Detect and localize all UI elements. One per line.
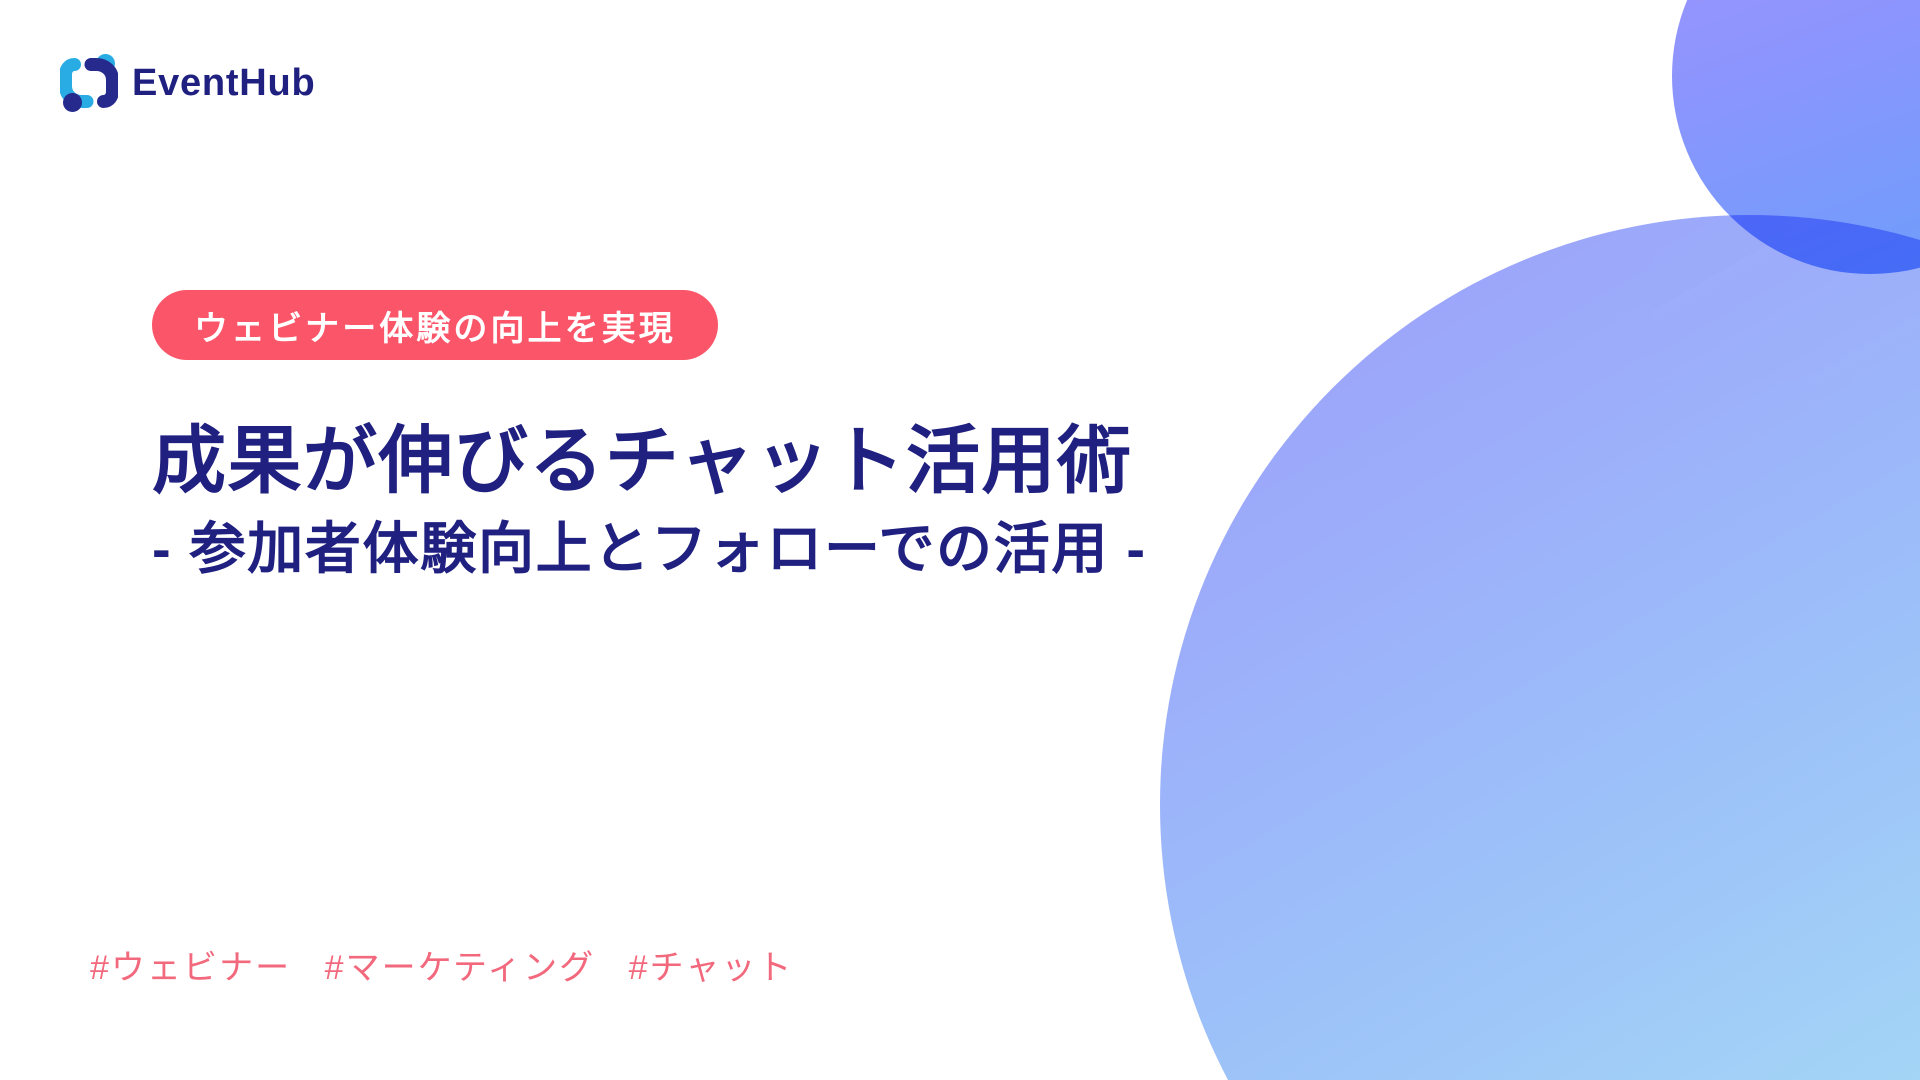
- status-badge-label: ウェビナー体験の向上を実現: [194, 301, 676, 350]
- slide-canvas: EventHub ウェビナー体験の向上を実現 成果が伸びるチャット活用術 - 参…: [0, 0, 1920, 1080]
- eventhub-mark-icon: [60, 52, 118, 114]
- brand-wordmark: EventHub: [132, 64, 315, 102]
- status-badge: ウェビナー体験の向上を実現: [152, 290, 718, 360]
- page-subtitle: - 参加者体験向上とフォローでの活用 -: [152, 517, 1452, 581]
- hashtag-item: #チャット: [629, 949, 794, 987]
- headline-block: 成果が伸びるチャット活用術 - 参加者体験向上とフォローでの活用 -: [152, 420, 1452, 581]
- brand-logo: EventHub: [60, 52, 315, 114]
- hashtag-list: #ウェビナー #マーケティング #チャット: [90, 940, 793, 989]
- hashtag-item: #ウェビナー: [90, 949, 291, 987]
- slide-content: EventHub ウェビナー体験の向上を実現 成果が伸びるチャット活用術 - 参…: [0, 0, 1920, 1080]
- page-title: 成果が伸びるチャット活用術: [152, 420, 1452, 503]
- hashtag-item: #マーケティング: [325, 949, 596, 987]
